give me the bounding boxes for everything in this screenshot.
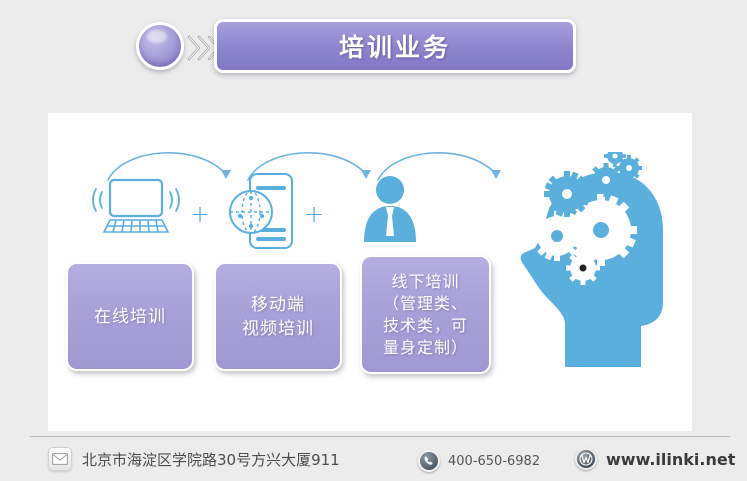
plus-sign-2: + (304, 202, 324, 226)
plus-sign-1: + (190, 202, 210, 226)
box-offline-label: 线下培训 （管理类、 技术类，可 量身定制） (383, 271, 468, 359)
title-banner: 培训业务 (136, 19, 576, 77)
laptop-wifi-icon (80, 174, 192, 248)
box-mobile[interactable]: 移动端 视频培训 (214, 262, 342, 371)
footer-address-text: 北京市海淀区学院路30号方兴大厦911 (82, 449, 340, 470)
page-title: 培训业务 (339, 28, 451, 64)
footer-web: www.ilinki.net (575, 444, 735, 474)
box-mobile-label: 移动端 视频培训 (242, 293, 314, 341)
telephone-icon (418, 450, 440, 472)
title-bar: 培训业务 (214, 19, 576, 73)
footer-divider (30, 436, 730, 437)
box-offline[interactable]: 线下培训 （管理类、 技术类，可 量身定制） (360, 255, 491, 374)
mail-envelope-icon (48, 447, 72, 471)
head-gears-icon (505, 152, 675, 391)
footer-web-text: www.ilinki.net (606, 450, 735, 469)
globe-web-icon (575, 448, 597, 470)
purple-sphere-icon (136, 22, 184, 70)
box-online[interactable]: 在线培训 (66, 262, 194, 371)
person-tie-icon (350, 174, 430, 250)
footer-phone-text: 400-650-6982 (448, 454, 540, 469)
icon-flow-group: + + (62, 168, 522, 254)
footer-address: 北京市海淀区学院路30号方兴大厦911 (48, 444, 340, 474)
box-online-label: 在线培训 (94, 305, 166, 329)
footer-phone: 400-650-6982 (418, 446, 540, 476)
footer: 北京市海淀区学院路30号方兴大厦911 400-650-6982 www.ili… (0, 440, 747, 481)
